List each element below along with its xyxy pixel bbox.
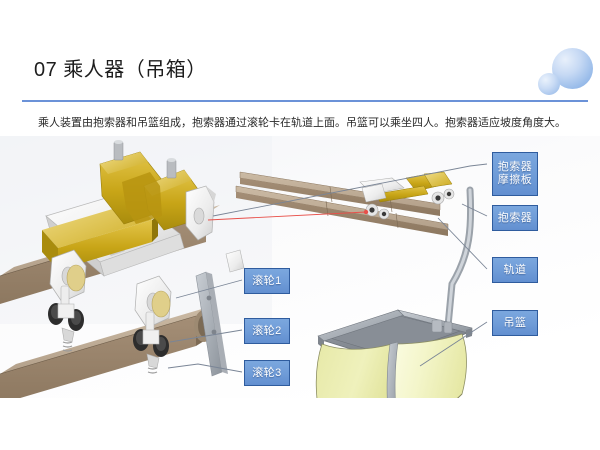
callout-roller-2[interactable]: 滚轮2 bbox=[244, 318, 290, 344]
callout-roller-3-label: 滚轮3 bbox=[252, 367, 282, 380]
decorative-circle-small-icon bbox=[538, 73, 560, 95]
page-title: 07 乘人器（吊箱） bbox=[34, 57, 207, 83]
callout-rail-label: 轨道 bbox=[504, 264, 527, 277]
subtitle-text: 乘人装置由抱索器和吊篮组成，抱索器通过滚轮卡在轨道上面。吊篮可以乘坐四人。抱索器… bbox=[38, 116, 578, 131]
callout-cabin[interactable]: 吊篮 bbox=[492, 310, 538, 336]
callout-roller-1-label: 滚轮1 bbox=[252, 275, 282, 288]
title-divider bbox=[22, 100, 588, 102]
callout-friction-plate-line-2: 摩擦板 bbox=[498, 174, 533, 187]
callout-roller-1[interactable]: 滚轮1 bbox=[244, 268, 290, 294]
callout-friction-plate[interactable]: 抱索器 摩擦板 bbox=[492, 152, 538, 196]
callout-rail[interactable]: 轨道 bbox=[492, 257, 538, 283]
callout-grip-label: 抱索器 bbox=[498, 212, 533, 225]
callout-cabin-label: 吊篮 bbox=[504, 317, 527, 330]
callout-grip[interactable]: 抱索器 bbox=[492, 205, 538, 231]
callout-roller-2-label: 滚轮2 bbox=[252, 325, 282, 338]
callout-friction-plate-line-1: 抱索器 bbox=[498, 161, 533, 174]
callout-roller-3[interactable]: 滚轮3 bbox=[244, 360, 290, 386]
